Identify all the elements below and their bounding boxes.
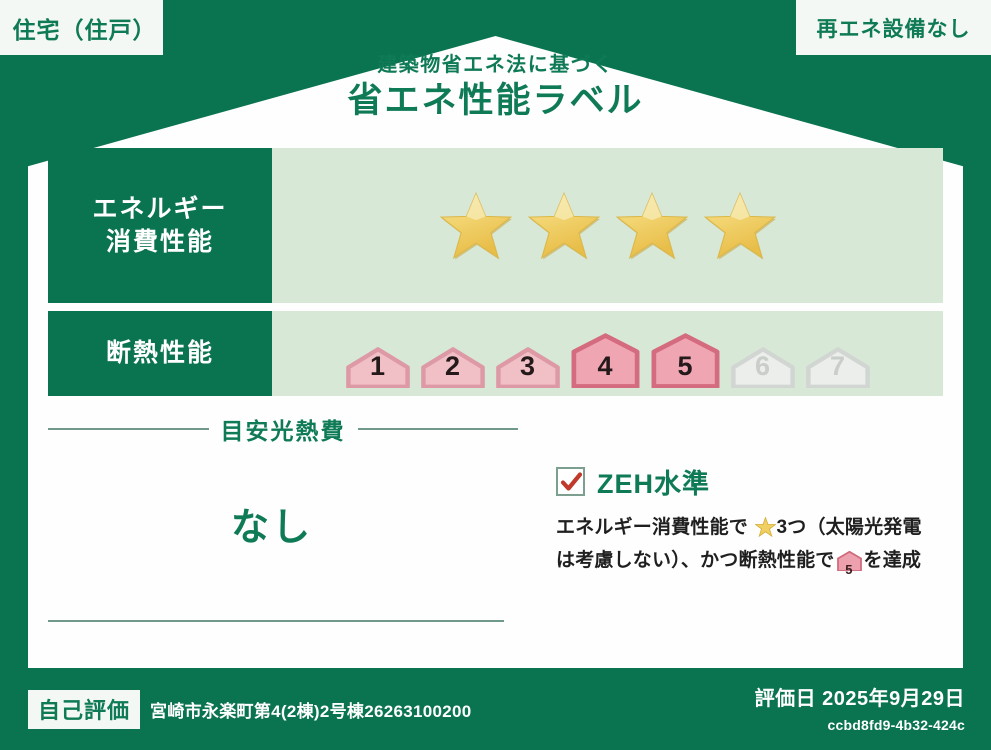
house-badge-icon-inline: 5 <box>837 551 862 580</box>
insulation-grade-number: 7 <box>802 351 874 382</box>
insulation-grade-3: 3 <box>492 345 564 388</box>
star-icon <box>615 190 689 262</box>
insulation-value: 1234567 <box>272 311 943 396</box>
zeh-desc-star-count: 3つ（太陽光発電 <box>777 517 922 538</box>
zeh-title: ZEH水準 <box>597 462 710 501</box>
badge-renewable-equipment: 再エネ設備なし <box>796 0 991 55</box>
zeh-headline: ZEH水準 <box>556 462 943 501</box>
utility-cost-heading-text: 目安光熱費 <box>221 412 346 446</box>
performance-block: エネルギー 消費性能 断熱性能 1234567 <box>48 148 943 396</box>
house-badge-number-inline: 5 <box>837 560 862 580</box>
insulation-label: 断熱性能 <box>48 311 272 396</box>
star-icon <box>527 190 601 262</box>
star-icon-inline <box>749 521 775 542</box>
rule-bottom <box>48 620 504 622</box>
evaluation-date: 評価日 2025年9月29日 <box>755 682 965 711</box>
property-address: 宮崎市永楽町第4(2棟)2号棟26263100200 <box>150 697 472 722</box>
star-icon <box>439 190 513 262</box>
insulation-grade-2: 2 <box>417 345 489 388</box>
insulation-grade-number: 4 <box>567 351 644 382</box>
insulation-grade-number: 2 <box>417 351 489 382</box>
energy-label-line1: エネルギー <box>92 193 227 226</box>
footer: 自己評価 宮崎市永楽町第4(2棟)2号棟26263100200 評価日 2025… <box>0 668 991 750</box>
energy-consumption-label: エネルギー 消費性能 <box>48 148 272 303</box>
utility-cost-value: なし <box>48 496 496 551</box>
star-icon <box>703 190 777 262</box>
rule-left <box>48 428 209 430</box>
insulation-label-text: 断熱性能 <box>106 337 214 370</box>
row-insulation-performance: 断熱性能 1234567 <box>48 311 943 396</box>
insulation-grade-1: 1 <box>342 345 414 388</box>
row-energy-consumption: エネルギー 消費性能 <box>48 148 943 303</box>
lower-section: 目安光熱費 なし ZEH水準 エネルギー消費性能で 3つ（太陽光発電 <box>48 404 943 642</box>
rule-right <box>358 428 519 430</box>
check-icon <box>556 467 585 496</box>
utility-cost-heading: 目安光熱費 <box>48 404 518 446</box>
footer-left: 自己評価 宮崎市永楽町第4(2棟)2号棟26263100200 <box>28 690 472 729</box>
self-evaluation-badge: 自己評価 <box>28 690 140 729</box>
utility-cost-column: 目安光熱費 なし <box>48 404 518 642</box>
insulation-grade-number: 5 <box>647 351 724 382</box>
zeh-desc-part2: は考慮しない）、かつ断熱性能で <box>556 550 835 571</box>
zeh-desc-part1: エネルギー消費性能で <box>556 517 748 538</box>
energy-label-line2: 消費性能 <box>106 226 214 259</box>
star-rating <box>439 190 777 262</box>
energy-performance-label: 住宅（住戸） 再エネ設備なし 建築物省エネ法に基づく 省エネ性能ラベル エネルギ… <box>0 0 991 750</box>
badge-dwelling-type: 住宅（住戸） <box>0 0 163 55</box>
energy-consumption-value <box>272 148 943 303</box>
insulation-grade-number: 1 <box>342 351 414 382</box>
insulation-grade-4: 4 <box>567 331 644 388</box>
evaluation-id: ccbd8fd9-4b32-424c <box>755 717 965 733</box>
insulation-grade-strip: 1234567 <box>342 311 874 396</box>
zeh-desc-part3: を達成 <box>864 550 922 571</box>
zeh-description: エネルギー消費性能で 3つ（太陽光発電 は考慮しない）、かつ断熱性能で 5を達成 <box>556 513 943 581</box>
insulation-grade-7: 7 <box>802 345 874 388</box>
insulation-grade-6: 6 <box>727 345 799 388</box>
insulation-grade-5: 5 <box>647 331 724 388</box>
zeh-column: ZEH水準 エネルギー消費性能で 3つ（太陽光発電 は考慮しない）、かつ断熱性能… <box>518 404 943 642</box>
insulation-grade-number: 6 <box>727 351 799 382</box>
insulation-grade-number: 3 <box>492 351 564 382</box>
footer-right: 評価日 2025年9月29日 ccbd8fd9-4b32-424c <box>755 682 965 733</box>
